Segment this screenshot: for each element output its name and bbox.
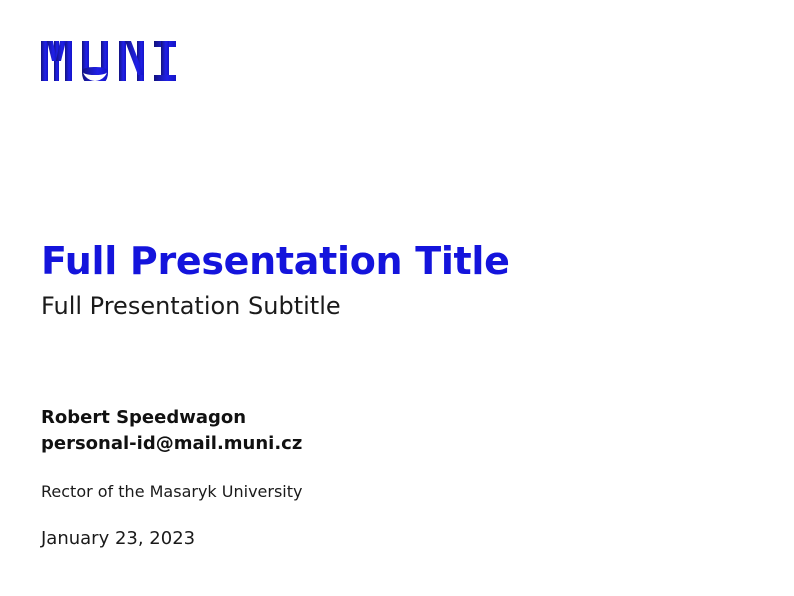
page-title: Full Presentation Title (41, 240, 741, 283)
muni-logo-letter-n (119, 41, 144, 81)
author-email: personal-id@mail.muni.cz (41, 431, 741, 457)
muni-logo (41, 41, 177, 81)
muni-logo-letter-u (82, 41, 108, 81)
muni-logo-letter-i (154, 41, 176, 81)
title-slide: Full Presentation Title Full Presentatio… (0, 0, 794, 596)
page-subtitle: Full Presentation Subtitle (41, 293, 741, 321)
author-meta-block: Robert Speedwagon personal-id@mail.muni.… (41, 405, 741, 550)
title-block: Full Presentation Title Full Presentatio… (41, 240, 741, 320)
presentation-date: January 23, 2023 (41, 527, 741, 550)
author-role: Rector of the Masaryk University (41, 482, 741, 503)
author-name: Robert Speedwagon (41, 405, 741, 431)
muni-logo-letter-m (41, 41, 72, 81)
